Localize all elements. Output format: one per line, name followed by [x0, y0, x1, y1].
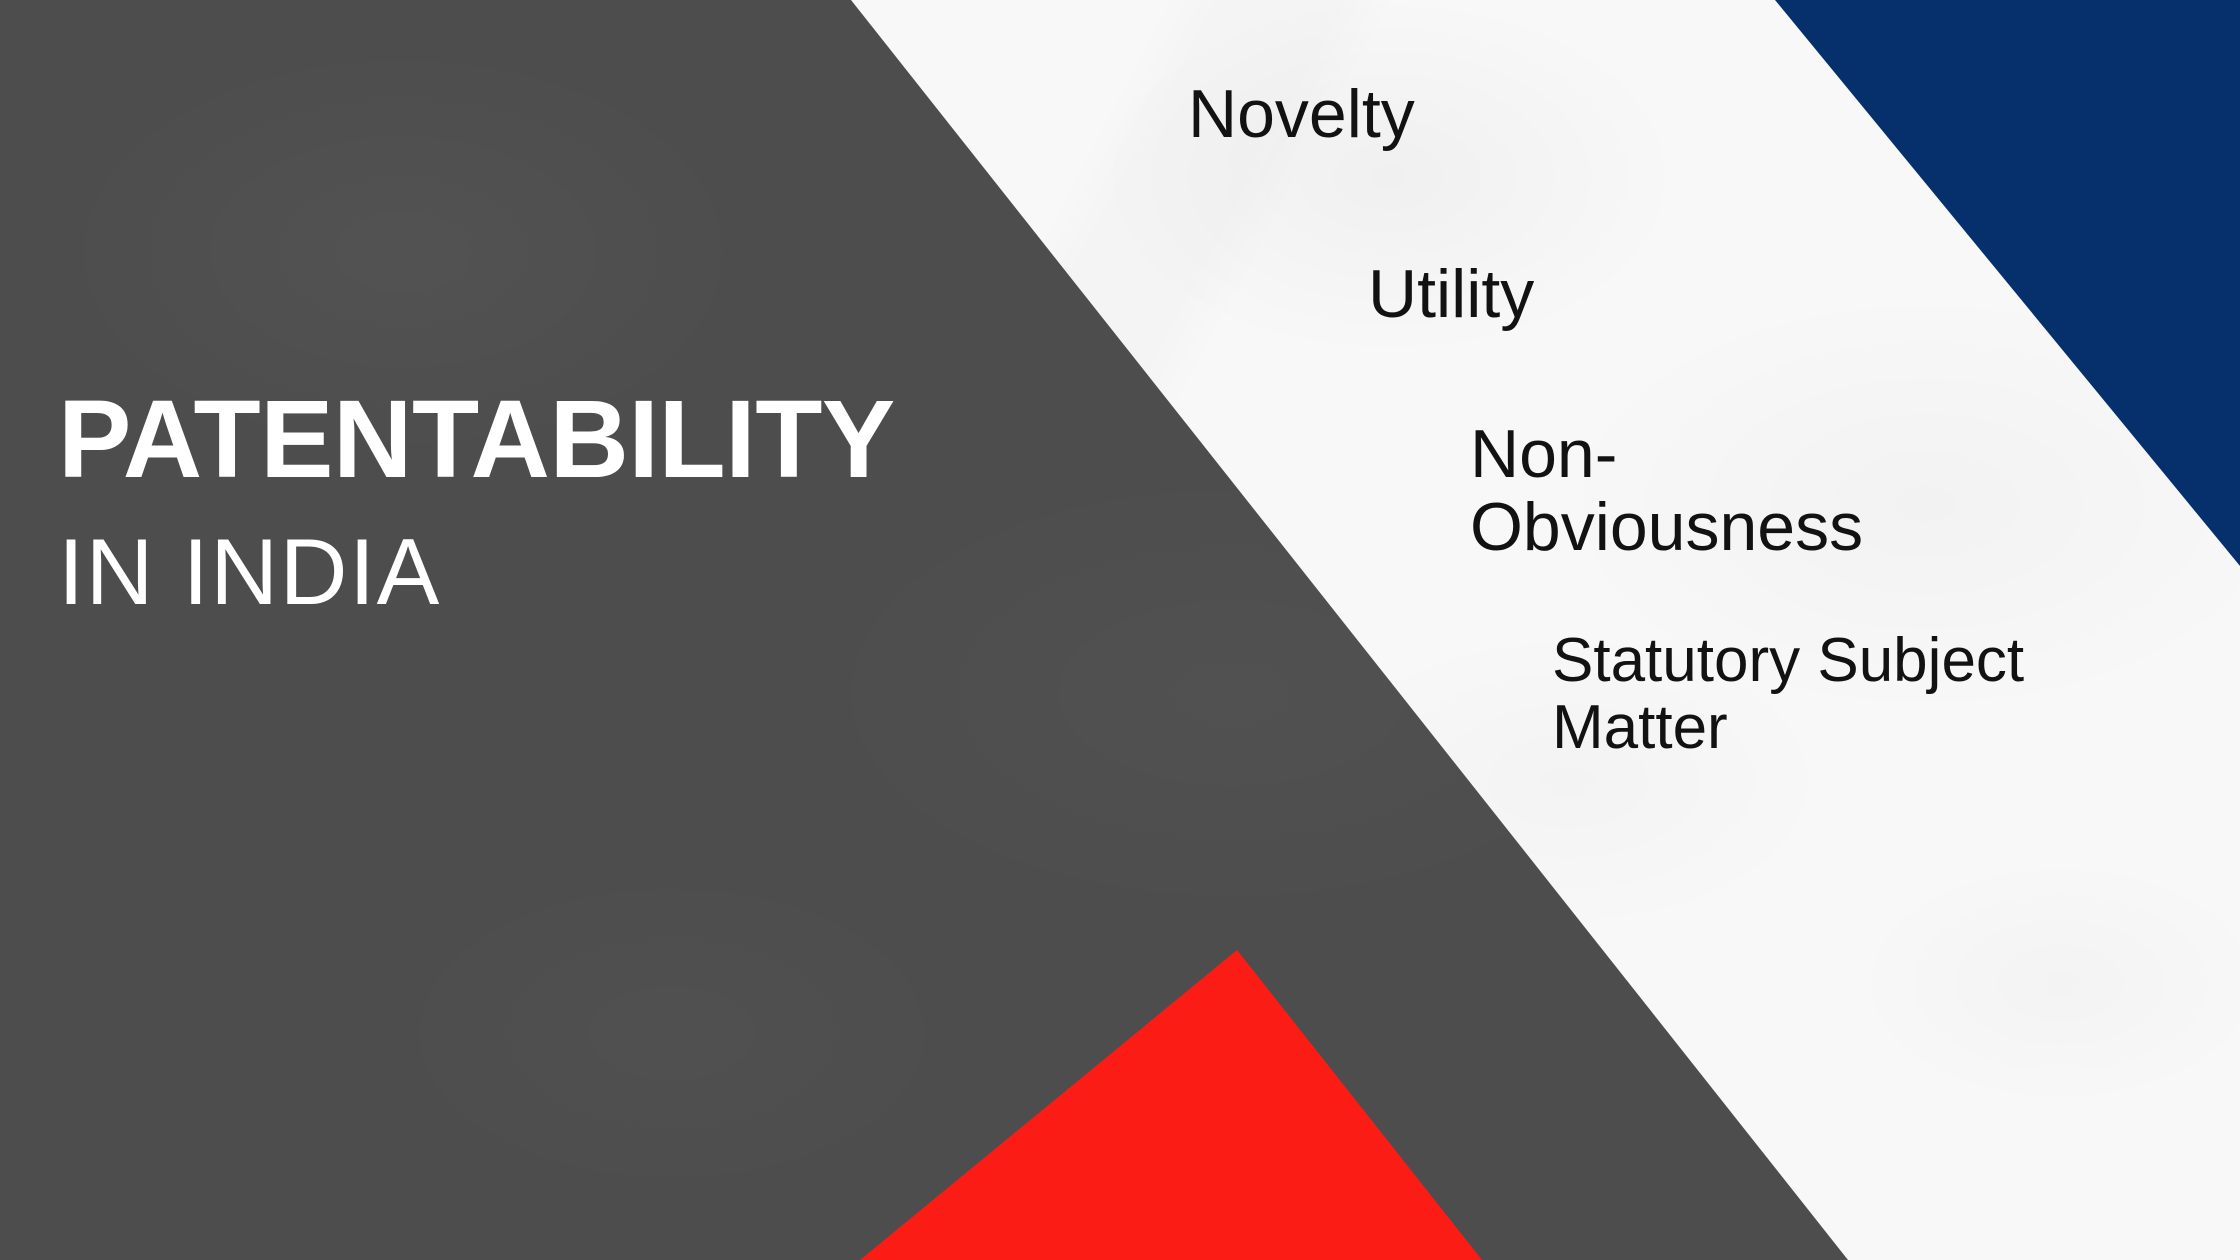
page-subtitle: IN INDIA — [58, 523, 838, 622]
criteria-list: Novelty Utility Non-Obviousness Statutor… — [1140, 78, 2230, 1178]
page-title: PATENTABILITY — [58, 382, 838, 499]
criterion-statutory-subject-matter: Statutory Subject Matter — [1552, 628, 2192, 762]
title-block: PATENTABILITY IN INDIA — [58, 382, 838, 621]
criterion-non-obviousness: Non-Obviousness — [1470, 418, 1990, 565]
presentation-slide: PATENTABILITY IN INDIA Novelty Utility N… — [0, 0, 2240, 1260]
criterion-novelty: Novelty — [1188, 78, 1415, 151]
criterion-utility: Utility — [1368, 258, 1534, 331]
